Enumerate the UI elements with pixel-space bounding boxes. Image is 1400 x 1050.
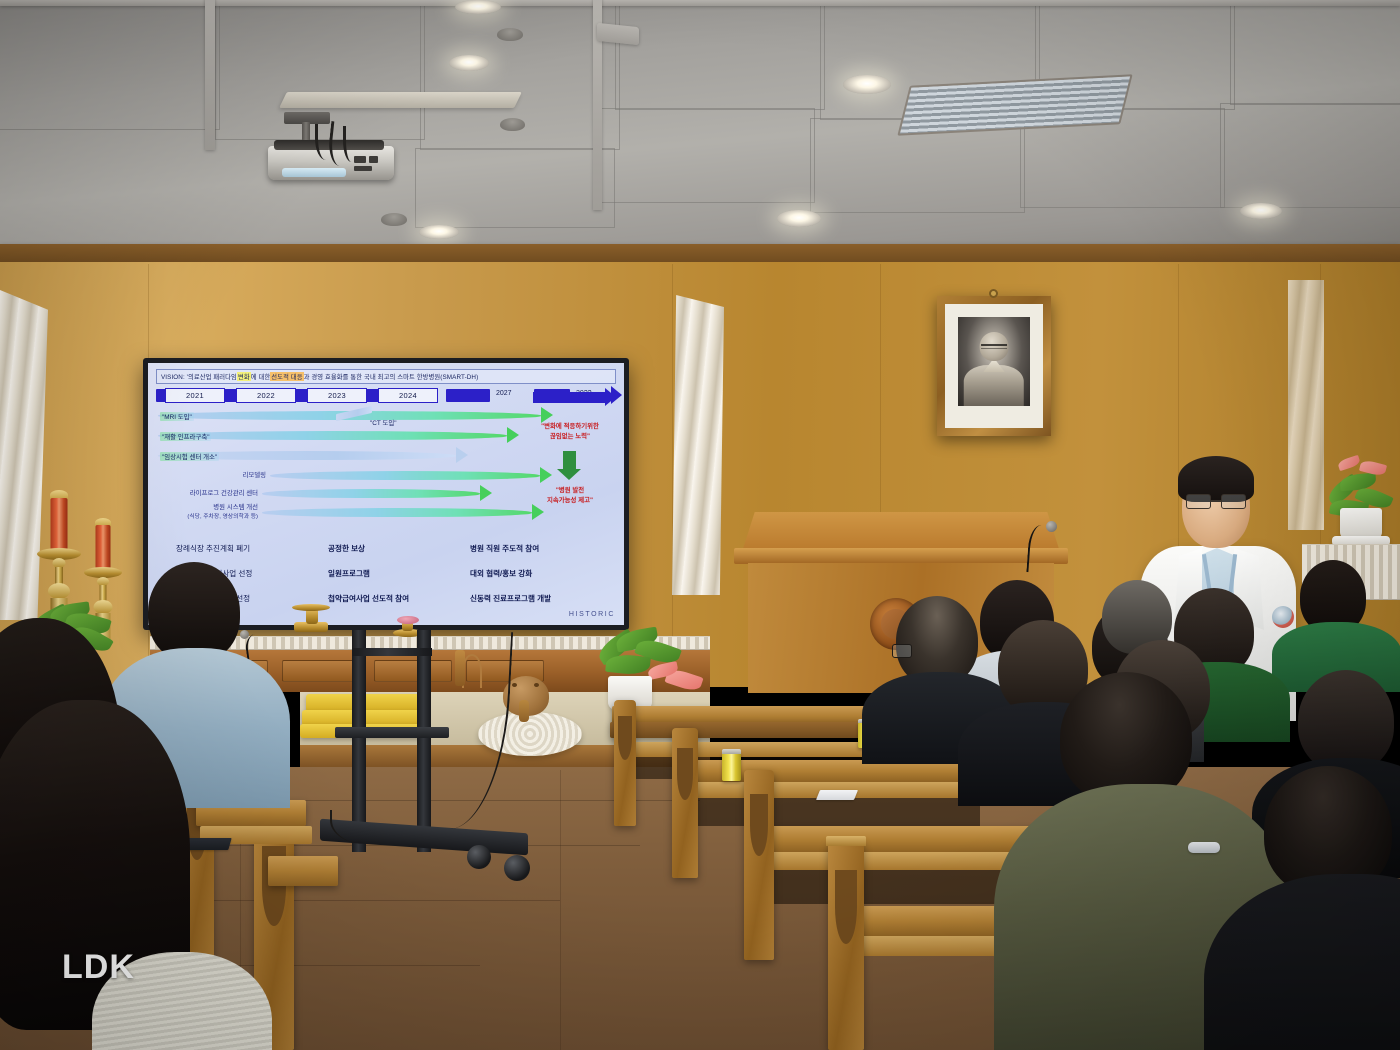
beverage-can [722, 752, 741, 781]
slide-bullet: 일원프로그램 [328, 568, 370, 579]
timeline-year: 2024 [378, 388, 438, 403]
moktak-handle [519, 700, 529, 722]
slide-note-line: "병원 발전 [511, 487, 624, 496]
ceiling-downlight [1240, 203, 1282, 219]
roadmap-arrow-label: "재활 인프라구축" [160, 432, 211, 441]
smoke-detector-icon [500, 118, 525, 131]
watermark-ldk: LDK [62, 948, 135, 987]
window-curtain [672, 295, 724, 595]
roadmap-arrow-label: "MRI 도입" [160, 412, 194, 421]
tv-cart-caster [504, 855, 530, 881]
audience-glasses [892, 644, 912, 658]
vision-tail: 과 경영 효율화를 통한 국내 최고의 스마트 한방병원(SMART-DH) [304, 372, 479, 381]
vision-mid: 에 대한 [251, 372, 271, 381]
slide-note-line: 지속가능성 제고" [511, 497, 624, 506]
slide-bullet: 첩약급여사업 선도적 참여 [328, 593, 409, 604]
ceiling-projector [268, 112, 398, 192]
timeline-end-arrow [533, 392, 605, 403]
portrait-photo [958, 317, 1030, 406]
roadmap-arrow-label: "임상시험 센터 개소" [160, 452, 219, 461]
ceiling-downlight [843, 75, 891, 94]
presenter-glasses [1221, 494, 1246, 509]
ceiling-downlight [777, 210, 821, 227]
roadmap-arrow-label: 라이프로그 건강관리 센터 [164, 488, 258, 497]
podium-top [742, 512, 1060, 552]
slide-bullet: 장례식장 추진계획 폐기 [176, 543, 250, 554]
tv-cart-crossbar [352, 648, 432, 656]
paper-handout [816, 790, 858, 800]
pew-row [268, 856, 338, 886]
presenter-glasses [1186, 494, 1211, 509]
slide-logo: HISTORIC [569, 611, 615, 618]
altar-microphone-head [240, 630, 249, 639]
roadmap-arrow [262, 508, 532, 517]
roadmap-arrow-label: 병원 시스템 개선 [174, 502, 258, 511]
altar-brass-vessel [292, 604, 330, 611]
timeline-year: 2022 [236, 388, 296, 403]
smoke-detector-icon [497, 28, 523, 41]
roadmap-arrow [270, 471, 540, 480]
timeline-year: 2021 [165, 388, 225, 403]
pew-row [752, 826, 1052, 852]
slide-vision-line: VISION: '의료산업 패러다임 변화에 대한 선도적 대응과 경영 효율화… [156, 369, 616, 384]
vision-prefix: VISION: '의료산업 패러다임 [161, 372, 237, 381]
timeline-future: 2027 [496, 390, 512, 397]
podium-lip [734, 548, 1068, 564]
slide-bullet: 대외 협력/홍보 강화 [470, 568, 532, 579]
roadmap-arrow-label: 리모델링 [208, 470, 266, 479]
altar-flower-offering [397, 616, 419, 624]
framed-portrait [937, 296, 1051, 436]
jacket-logo-patch [1188, 842, 1220, 853]
roadmap-arrow-sublabel: (식당, 주차장, 영상의학과 등) [158, 511, 258, 520]
picture-hook [989, 289, 998, 298]
slide-bullet: 신동력 진료프로그램 개발 [470, 593, 551, 604]
tv-cart-caster [467, 845, 491, 869]
roadmap-arrow [262, 489, 480, 498]
slide-bullet: 병원 직원 주도적 참여 [470, 543, 539, 554]
timeline-year: 2023 [307, 388, 367, 403]
hospital-logo-patch [1272, 606, 1294, 628]
lecture-hall-photo: VISION: '의료산업 패러다임 변화에 대한 선도적 대응과 경영 효율화… [0, 0, 1400, 1050]
vision-highlight-1: 변화 [237, 372, 251, 381]
vision-highlight-2: 선도적 대응 [270, 372, 303, 381]
ceiling [0, 0, 1400, 250]
ceiling-downlight [419, 225, 459, 239]
podium-microphone-head [1046, 521, 1057, 532]
slide-note-line: "변화에 적응하기위한 [511, 423, 624, 432]
smoke-detector-icon [381, 213, 407, 226]
slide-bullet: 공정한 보상 [328, 543, 365, 554]
ceiling-downlight [449, 55, 489, 71]
slide-note-line: 끊임없는 노력" [511, 433, 624, 442]
slide-down-arrow-icon [563, 451, 576, 469]
window-curtain [1288, 280, 1324, 530]
ceiling-downlight [455, 0, 501, 14]
roadmap-arrow-label: "CT 도입" [370, 418, 396, 427]
